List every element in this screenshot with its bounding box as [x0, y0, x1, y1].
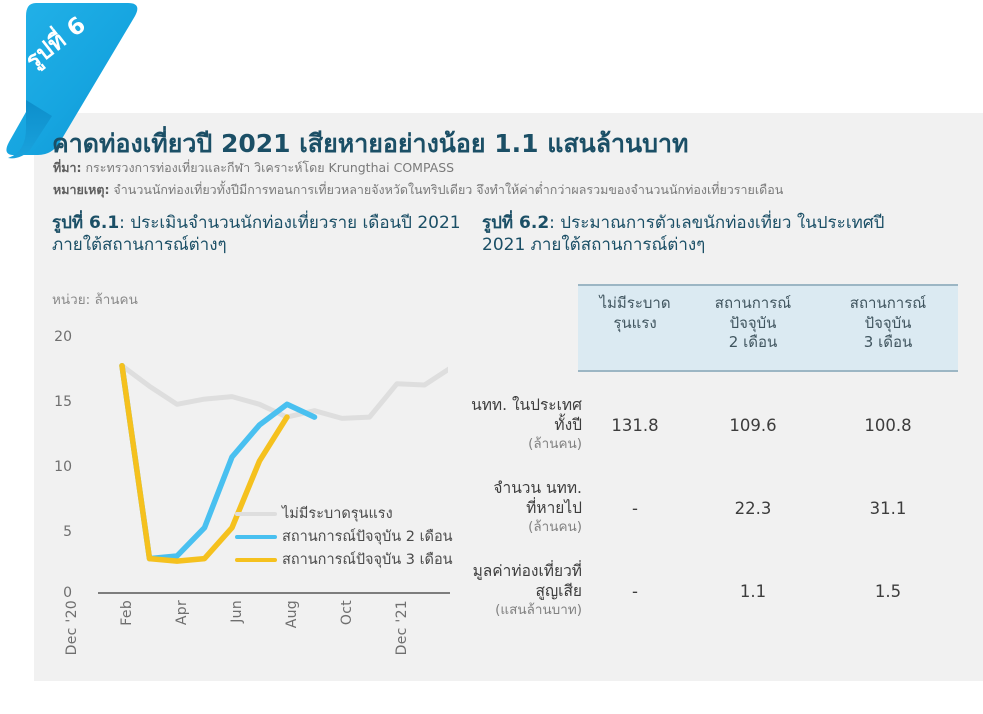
- table-row-label-1-line2: ที่หายไป: [392, 499, 582, 519]
- table-cell-0-2: 100.8: [833, 416, 943, 435]
- table-row-label-1: จำนวน นทท. ที่หายไป (ล้านคน): [392, 479, 582, 536]
- legend-swatch-1: [235, 535, 277, 539]
- y-tick-10: 10: [32, 459, 72, 475]
- table-cell-0-1: 109.6: [698, 416, 808, 435]
- table-row-label-2: มูลค่าท่องเที่ยวที่ สูญเสีย (แสนล้านบาท): [392, 562, 582, 619]
- estimates-table: ไม่มีระบาด รุนแรง สถานการณ์ ปัจจุบัน 2 เ…: [440, 280, 960, 670]
- table-col-header-1-line1: สถานการณ์: [698, 294, 808, 314]
- y-tick-0: 0: [32, 585, 72, 601]
- source-line: ที่มา: กระทรวงการท่องเที่ยวและกีฬา วิเคร…: [53, 158, 454, 178]
- table-col-header-0-line2: รุนแรง: [580, 314, 690, 334]
- subheading-6-1-number: รูปที่ 6.1: [52, 213, 119, 233]
- table-cell-2-2: 1.5: [833, 582, 943, 601]
- source-text: กระทรวงการท่องเที่ยวและกีฬา วิเคราะห์โดย…: [82, 160, 455, 175]
- subheading-6-2: รูปที่ 6.2: ประมาณการตัวเลขนักท่องเที่ยว…: [482, 212, 922, 257]
- table-col-header-2: สถานการณ์ ปัจจุบัน 3 เดือน: [833, 294, 943, 353]
- table-row-label-2-line1: มูลค่าท่องเที่ยวที่: [392, 562, 582, 582]
- table-cell-1-0: -: [580, 499, 690, 518]
- table-cell-1-2: 31.1: [833, 499, 943, 518]
- table-cell-1-1: 22.3: [698, 499, 808, 518]
- table-row-unit-1: (ล้านคน): [392, 519, 582, 536]
- table-row-label-0-line2: ทั้งปี: [392, 416, 582, 436]
- x-tick-5: Oct: [339, 600, 355, 625]
- table-col-header-2-line3: 3 เดือน: [833, 333, 943, 353]
- table-col-header-2-line1: สถานการณ์: [833, 294, 943, 314]
- table-col-header-0: ไม่มีระบาด รุนแรง: [580, 294, 690, 333]
- note-line: หมายเหตุ: จำนวนนักท่องเที่ยวทั้งปีมีการท…: [53, 180, 783, 200]
- x-tick-4: Aug: [284, 600, 300, 628]
- x-tick-1: Feb: [119, 600, 135, 626]
- ribbon-label: รูปที่ 6: [18, 0, 135, 78]
- table-row-unit-0: (ล้านคน): [392, 436, 582, 453]
- x-tick-3: Jun: [229, 600, 245, 623]
- table-col-header-2-line2: ปัจจุบัน: [833, 314, 943, 334]
- y-tick-5: 5: [32, 524, 72, 540]
- table-col-header-1: สถานการณ์ ปัจจุบัน 2 เดือน: [698, 294, 808, 353]
- x-tick-0: Dec '20: [64, 600, 80, 655]
- chart-unit-label: หน่วย: ล้านคน: [52, 288, 138, 310]
- subheading-6-1: รูปที่ 6.1: ประเมินจำนวนนักท่องเที่ยวราย…: [52, 212, 472, 257]
- table-cell-2-0: -: [580, 582, 690, 601]
- note-label: หมายเหตุ:: [53, 182, 109, 197]
- table-cell-0-0: 131.8: [580, 416, 690, 435]
- x-tick-2: Apr: [174, 600, 190, 625]
- table-col-header-1-line2: ปัจจุบัน: [698, 314, 808, 334]
- legend-label-0: ไม่มีระบาดรุนแรง: [282, 502, 393, 525]
- table-row-label-0-line1: นทท. ในประเทศ: [392, 396, 582, 416]
- legend-swatch-2: [235, 558, 277, 562]
- legend-swatch-0: [235, 512, 277, 516]
- note-text: จำนวนนักท่องเที่ยวทั้งปีมีการทอนการเที่ย…: [109, 182, 783, 197]
- table-row-label-1-line1: จำนวน นทท.: [392, 479, 582, 499]
- y-tick-15: 15: [32, 394, 72, 410]
- subheading-6-2-number: รูปที่ 6.2: [482, 213, 549, 233]
- y-tick-20: 20: [32, 329, 72, 345]
- table-col-header-1-line3: 2 เดือน: [698, 333, 808, 353]
- table-row-label-2-line2: สูญเสีย: [392, 582, 582, 602]
- source-label: ที่มา:: [53, 160, 82, 175]
- table-row-unit-2: (แสนล้านบาท): [392, 602, 582, 619]
- table-cell-2-1: 1.1: [698, 582, 808, 601]
- table-row-label-0: นทท. ในประเทศ ทั้งปี (ล้านคน): [392, 396, 582, 453]
- table-col-header-0-line1: ไม่มีระบาด: [580, 294, 690, 314]
